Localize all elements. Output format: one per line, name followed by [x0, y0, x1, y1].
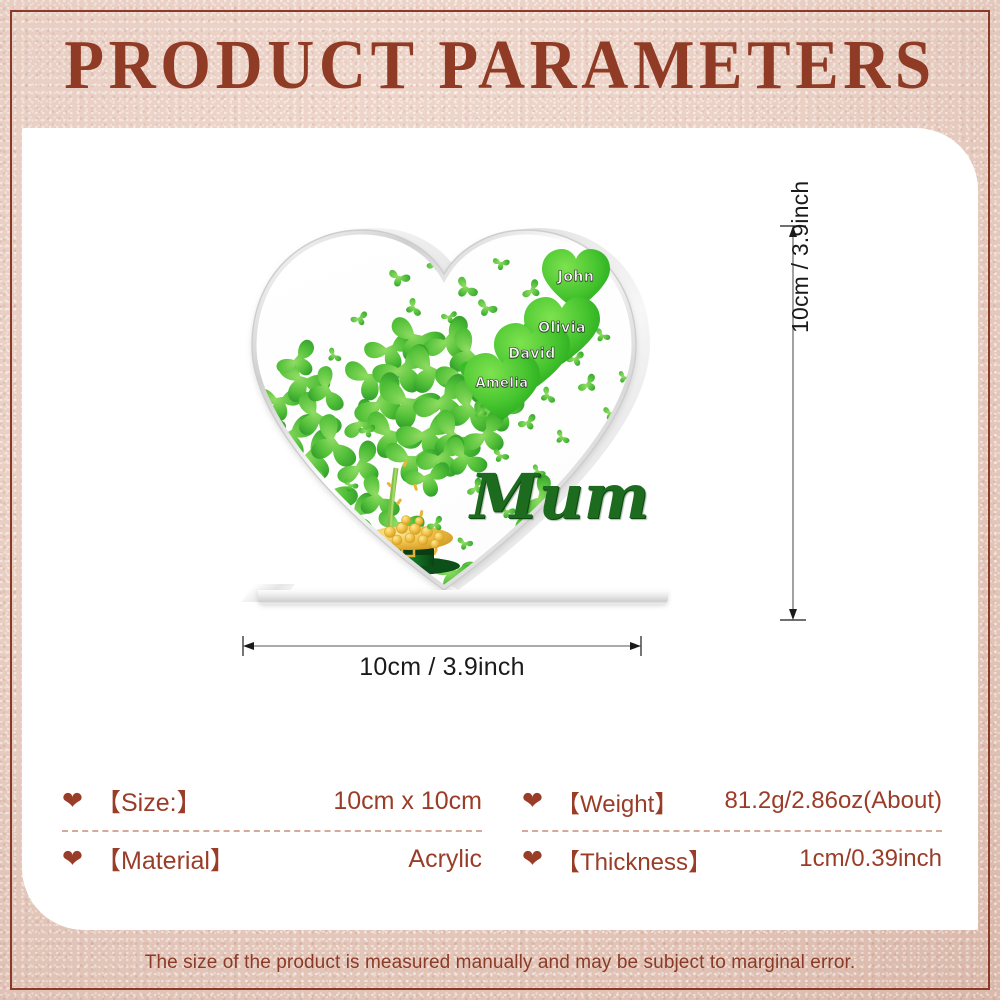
spec-row-material: ❤ 【Material】 Acrylic: [62, 830, 482, 888]
heart-icon: ❤: [62, 847, 88, 872]
spec-value: 10cm x 10cm: [202, 787, 482, 816]
acrylic-base-strip: [258, 590, 668, 604]
spec-column-right: ❤ 【Weight】 81.2g/2.86oz(About) ❤ 【Thickn…: [522, 772, 942, 888]
spec-row-weight: ❤ 【Weight】 81.2g/2.86oz(About): [522, 772, 942, 830]
spec-row-size: ❤ 【Size:】 10cm x 10cm: [62, 772, 482, 830]
product-parameters-page: PRODUCT PARAMETERS: [0, 0, 1000, 1000]
spec-value: 81.2g/2.86oz(About): [678, 787, 942, 815]
spec-key: 【Thickness】: [556, 842, 712, 877]
page-title: PRODUCT PARAMETERS: [35, 28, 965, 104]
footer-disclaimer: The size of the product is measured manu…: [0, 952, 1000, 974]
heart-icon: ❤: [522, 789, 548, 814]
spec-key: 【Size:】: [96, 783, 202, 819]
spec-table: ❤ 【Size:】 10cm x 10cm ❤ 【Material】 Acryl…: [62, 772, 942, 902]
spec-key: 【Weight】: [556, 784, 678, 819]
horizontal-dimension-label: 10cm / 3.9inch: [240, 653, 644, 682]
spec-row-thickness: ❤ 【Thickness】 1cm/0.39inch: [522, 830, 942, 888]
vertical-dimension-label: 10cm / 3.9inch: [787, 181, 814, 333]
heart-icon: ❤: [62, 789, 88, 814]
acrylic-heart-plaque: John Olivia David Amelia: [238, 198, 678, 668]
spec-key: 【Material】: [96, 841, 235, 877]
script-name-text: Mum: [470, 460, 649, 533]
heart-icon: ❤: [522, 847, 548, 872]
name-label: Amelia: [475, 350, 528, 418]
spec-value: Acrylic: [235, 845, 482, 874]
spec-column-left: ❤ 【Size:】 10cm x 10cm ❤ 【Material】 Acryl…: [62, 772, 482, 888]
spec-value: 1cm/0.39inch: [712, 845, 942, 873]
